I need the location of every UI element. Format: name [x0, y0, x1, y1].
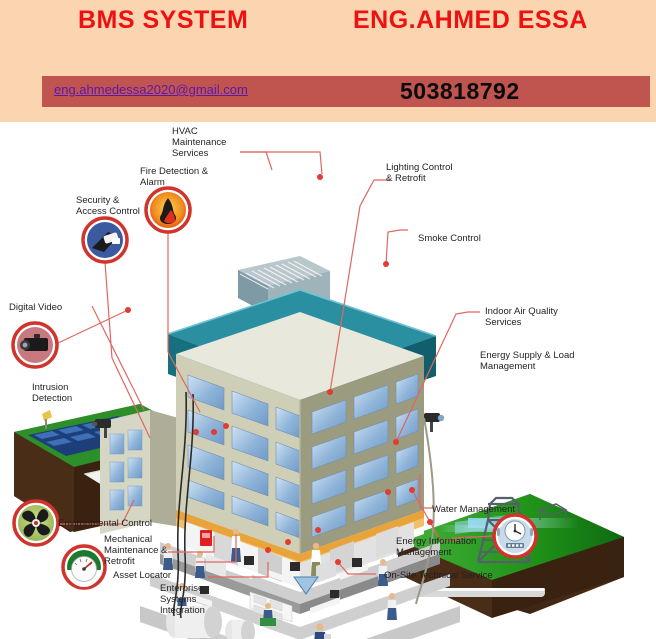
security-access-icon[interactable] — [83, 218, 127, 262]
callout-environmental-control: Environmental Control — [58, 518, 188, 529]
phone-number: 503818792 — [400, 78, 520, 105]
callout-smoke-control: Smoke Control — [418, 233, 512, 244]
callout-energy-supply-load-management: Energy Supply & Load Management — [480, 350, 590, 372]
callout-on-site-technical-service: On-Site Technical Service — [384, 570, 534, 581]
energy-meter-icon[interactable] — [494, 515, 536, 557]
page-title-bms: BMS SYSTEM — [78, 6, 248, 35]
page-title-engineer: ENG.AHMED ESSA — [353, 6, 588, 35]
header-band: BMS SYSTEM ENG.AHMED ESSA eng.ahmedessa2… — [0, 0, 656, 122]
digital-video-icon[interactable] — [13, 323, 57, 367]
callout-asset-locator: Asset Locator — [113, 570, 203, 581]
callout-energy-information-management: Energy Information Management — [396, 536, 492, 558]
callout-digital-video: Digital Video — [9, 302, 79, 313]
callout-security-access-control: Security & Access Control — [76, 195, 162, 217]
bms-diagram: HVAC Maintenance Services Fire Detection… — [0, 122, 656, 639]
exterior-camera-right — [424, 413, 444, 432]
callout-lighting-control-retrofit: Lighting Control & Retrofit — [386, 162, 472, 184]
contact-bar: eng.ahmedessa2020@gmail.com 503818792 — [42, 76, 650, 107]
callout-indoor-air-quality-services: Indoor Air Quality Services — [485, 306, 581, 328]
email-link[interactable]: eng.ahmedessa2020@gmail.com — [54, 82, 248, 97]
callout-water-management: Water Management — [432, 504, 542, 515]
environmental-control-icon[interactable] — [14, 501, 58, 545]
asset-locator-icon[interactable] — [63, 546, 105, 588]
screenshot-root: BMS SYSTEM ENG.AHMED ESSA eng.ahmedessa2… — [0, 0, 656, 639]
callout-fire-detection-alarm: Fire Detection & Alarm — [140, 166, 230, 188]
callout-enterprise-systems-integration: Enterprise Systems Integration — [160, 583, 222, 616]
callout-hvac-maintenance-services: HVAC Maintenance Services — [172, 126, 242, 159]
callout-intrusion-detection: Intrusion Detection — [32, 382, 94, 404]
callout-mechanical-maintenance-retrofit: Mechanical Maintenance & Retrofit — [104, 534, 190, 567]
